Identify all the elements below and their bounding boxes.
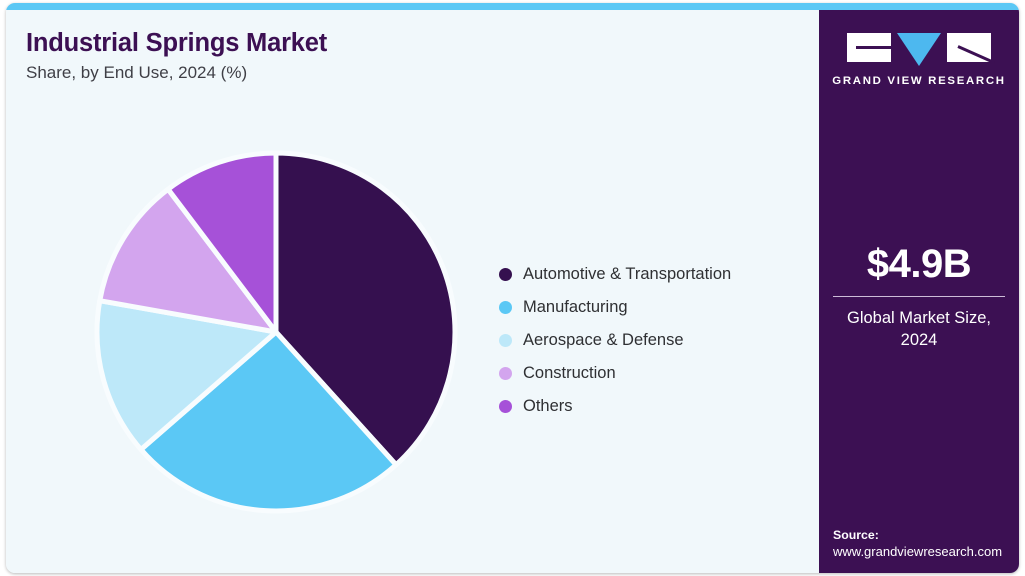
legend-item-label: Automotive & Transportation [523, 265, 731, 284]
top-accent-bar [6, 3, 1019, 10]
pie-chart-svg [90, 146, 462, 518]
legend-item-label: Aerospace & Defense [523, 331, 684, 350]
logo-r-icon [947, 33, 991, 62]
brand-panel: GRAND VIEW RESEARCH $4.9B Global Market … [819, 10, 1019, 573]
logo-g-icon [847, 33, 891, 62]
legend-color-swatch-icon [499, 268, 512, 281]
chart-legend: Automotive & TransportationManufacturing… [499, 258, 731, 423]
logo-wordmark: GRAND VIEW RESEARCH [832, 75, 1005, 87]
legend-color-swatch-icon [499, 367, 512, 380]
source-label: Source: [833, 528, 1011, 542]
legend-item-label: Manufacturing [523, 298, 628, 317]
chart-canvas: Industrial Springs Market Share, by End … [0, 0, 1025, 576]
logo-marks [847, 33, 991, 66]
grand-view-research-logo: GRAND VIEW RESEARCH [819, 33, 1019, 87]
legend-color-swatch-icon [499, 400, 512, 413]
stat-divider [833, 296, 1005, 297]
legend-item[interactable]: Aerospace & Defense [499, 324, 731, 357]
legend-item-label: Others [523, 397, 573, 416]
legend-item[interactable]: Automotive & Transportation [499, 258, 731, 291]
legend-item-label: Construction [523, 364, 616, 383]
page-title: Industrial Springs Market [26, 29, 327, 58]
legend-item[interactable]: Construction [499, 357, 731, 390]
pie-chart [90, 146, 462, 518]
legend-item[interactable]: Manufacturing [499, 291, 731, 324]
infographic-card: Industrial Springs Market Share, by End … [6, 3, 1019, 573]
market-size-value: $4.9B [819, 244, 1019, 284]
market-size-caption: Global Market Size, 2024 [819, 307, 1019, 352]
chart-pane: Industrial Springs Market Share, by End … [6, 10, 819, 573]
logo-v-triangle-icon [897, 33, 941, 66]
legend-color-swatch-icon [499, 301, 512, 314]
page-subtitle: Share, by End Use, 2024 (%) [26, 63, 247, 83]
legend-color-swatch-icon [499, 334, 512, 347]
legend-item[interactable]: Others [499, 390, 731, 423]
source-url[interactable]: www.grandviewresearch.com [833, 544, 1011, 559]
source-block: Source: www.grandviewresearch.com [833, 528, 1011, 559]
market-size-stat: $4.9B Global Market Size, 2024 [819, 244, 1019, 352]
